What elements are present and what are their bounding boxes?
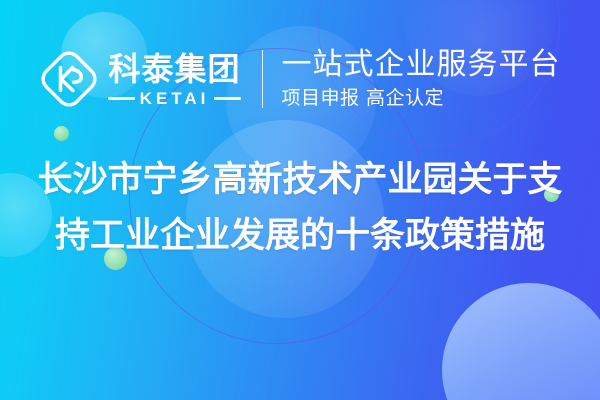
brand-name-cn: 科泰集团 [108, 53, 240, 85]
brand-name-en-row: KETAI [108, 90, 240, 107]
ketai-diamond-kp-logo-icon [39, 49, 99, 109]
brand-name-en: KETAI [140, 90, 210, 107]
header-divider [262, 50, 263, 108]
decorative-circle-bottom-right [442, 283, 600, 400]
promo-banner: 科泰集团 KETAI 一站式企业服务平台 项目申报 高企认定 长沙市宁乡高新技术… [0, 0, 600, 400]
page-title-line-2: 持工业企业发展的十条政策措施 [0, 208, 600, 264]
decorative-dot-green-top [54, 126, 69, 141]
wordmark-rule-right [214, 97, 240, 100]
tagline-sub: 项目申报 高企认定 [282, 88, 561, 109]
banner-header: 科泰集团 KETAI 一站式企业服务平台 项目申报 高企认定 [0, 36, 600, 122]
brand-wordmark: 科泰集团 KETAI [108, 53, 240, 107]
tagline-main: 一站式企业服务平台 [282, 49, 561, 81]
page-title: 长沙市宁乡高新技术产业园关于支 持工业企业发展的十条政策措施 [0, 152, 600, 264]
page-title-line-1: 长沙市宁乡高新技术产业园关于支 [0, 152, 600, 208]
tagline: 一站式企业服务平台 项目申报 高企认定 [282, 49, 561, 109]
brand-logo[interactable]: 科泰集团 KETAI [39, 49, 240, 109]
wordmark-rule-left [108, 97, 134, 100]
